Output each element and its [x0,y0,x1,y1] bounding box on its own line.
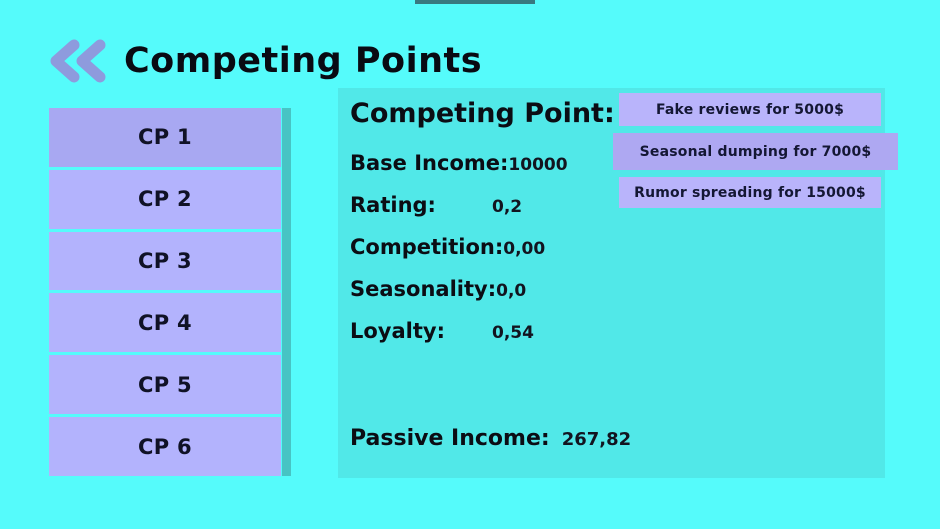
stat-label-seasonality: Seasonality: [350,277,496,301]
stat-row-rating: Rating: 0,2 [350,193,620,225]
stat-value-rating: 0,2 [492,197,522,217]
detail-heading: Competing Point: [350,98,620,129]
stat-value-loyalty: 0,54 [492,323,534,343]
competing-points-list: CP 1 CP 2 CP 3 CP 4 CP 5 CP 6 [49,108,291,476]
list-item-cp-3[interactable]: CP 3 [49,232,281,291]
stat-row-competition: Competition: 0,00 [350,235,620,267]
top-cutoff-strip [415,0,535,4]
stat-value-seasonality: 0,0 [496,281,526,301]
page-title: Competing Points [124,41,482,81]
fake-reviews-button[interactable]: Fake reviews for 5000$ [619,93,881,126]
stat-row-base-income: Base Income: 10000 [350,151,620,183]
stat-label-rating: Rating: [350,193,492,217]
stat-row-loyalty: Loyalty: 0,54 [350,319,620,351]
list-item-cp-4[interactable]: CP 4 [49,293,281,352]
stat-label-competition: Competition: [350,235,503,259]
action-buttons: Fake reviews for 5000$ Seasonal dumping … [613,93,881,208]
list-scrollbar[interactable] [282,108,291,476]
list-item-cp-5[interactable]: CP 5 [49,355,281,414]
stat-label-base-income: Base Income: [350,151,508,175]
passive-income-value: 267,82 [562,429,631,450]
rumor-spreading-button[interactable]: Rumor spreading for 15000$ [619,177,881,208]
passive-income-row: Passive Income: 267,82 [350,426,631,451]
page-header: Competing Points [44,30,604,92]
list-item-cp-6[interactable]: CP 6 [49,417,281,476]
competing-point-detail-panel: Competing Point: Base Income: 10000 Rati… [338,88,885,478]
double-chevron-left-icon[interactable] [44,35,110,87]
stat-value-competition: 0,00 [503,239,545,259]
list-items-container: CP 1 CP 2 CP 3 CP 4 CP 5 CP 6 [49,108,281,476]
list-item-cp-2[interactable]: CP 2 [49,170,281,229]
stat-label-loyalty: Loyalty: [350,319,492,343]
seasonal-dumping-button[interactable]: Seasonal dumping for 7000$ [613,133,898,170]
stat-row-seasonality: Seasonality: 0,0 [350,277,620,309]
passive-income-label: Passive Income: [350,426,550,451]
detail-stats: Competing Point: Base Income: 10000 Rati… [350,98,620,361]
stat-value-base-income: 10000 [508,155,567,175]
list-item-cp-1[interactable]: CP 1 [49,108,281,167]
